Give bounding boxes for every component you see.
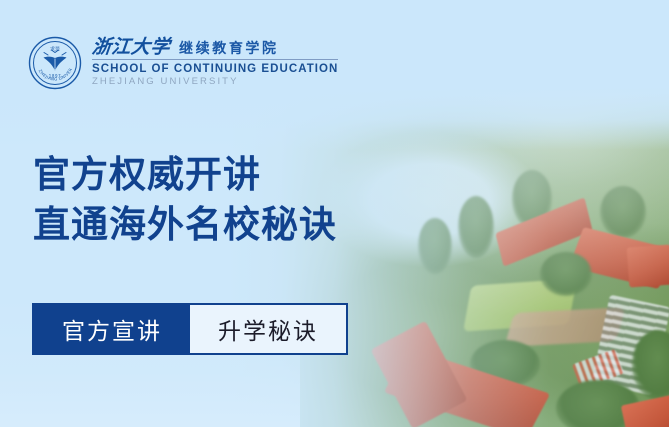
university-logo-lockup: ZHEJIANG UNIVERSITY 1897 求是 浙江大学 继续教育学院 … bbox=[28, 36, 338, 90]
tab-group: 官方宣讲 升学秘诀 bbox=[32, 303, 348, 355]
headline-line-1: 官方权威开讲 bbox=[33, 155, 337, 195]
logo-english-main: SCHOOL OF CONTINUING EDUCATION bbox=[92, 63, 338, 76]
headline-line-2: 直通海外名校秘诀 bbox=[33, 205, 337, 245]
logo-chinese-row: 浙江大学 继续教育学院 bbox=[92, 38, 338, 60]
logo-english-sub: ZHEJIANG UNIVERSITY bbox=[92, 76, 338, 88]
svg-text:1897: 1897 bbox=[49, 74, 62, 79]
logo-text-block: 浙江大学 继续教育学院 SCHOOL OF CONTINUING EDUCATI… bbox=[92, 38, 338, 89]
headline-block: 官方权威开讲 直通海外名校秘诀 bbox=[33, 155, 337, 245]
svg-text:求是: 求是 bbox=[50, 46, 60, 53]
promo-banner: ZHEJIANG UNIVERSITY 1897 求是 浙江大学 继续教育学院 … bbox=[0, 0, 669, 427]
logo-chinese-script: 浙江大学 bbox=[91, 38, 171, 57]
tab-official-session[interactable]: 官方宣讲 bbox=[34, 305, 190, 353]
tab-admission-tips[interactable]: 升学秘诀 bbox=[190, 305, 346, 353]
zhejiang-university-seal-icon: ZHEJIANG UNIVERSITY 1897 求是 bbox=[28, 36, 82, 90]
logo-chinese-subtitle: 继续教育学院 bbox=[179, 42, 279, 56]
